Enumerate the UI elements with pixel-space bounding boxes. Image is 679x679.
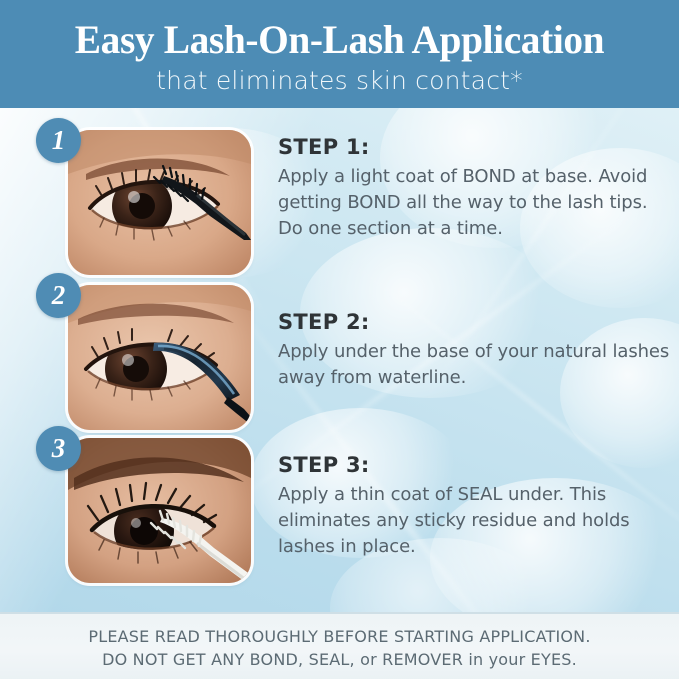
step-body: Apply a light coat of BOND at base. Avoi… (278, 164, 676, 242)
step-row: 3 STEP 3: Apply a thin coat of SEAL unde… (0, 418, 679, 578)
eye-photo-2-illustration (68, 285, 251, 430)
step-row: 1 STEP 1: Apply a light coat of BOND at … (0, 108, 679, 263)
poster-title: Easy Lash-On-Lash Application (5, 18, 674, 62)
step-badge: 2 (36, 273, 81, 318)
step-text-block: STEP 1: Apply a light coat of BOND at ba… (278, 134, 676, 242)
step-badge: 1 (36, 118, 81, 163)
steps-section: 1 STEP 1: Apply a light coat of BOND at … (0, 108, 679, 612)
step-photo (68, 285, 251, 430)
footer-warning-line-1: PLEASE READ THOROUGHLY BEFORE STARTING A… (0, 625, 679, 648)
step-text-block: STEP 3: Apply a thin coat of SEAL under.… (278, 452, 676, 560)
step-body: Apply a thin coat of SEAL under. This el… (278, 482, 676, 560)
eye-photo-1-illustration (68, 130, 251, 275)
eye-photo-3-illustration (68, 438, 251, 583)
step-text-block: STEP 2: Apply under the base of your nat… (278, 309, 676, 391)
step-photo (68, 438, 251, 583)
step-photo (68, 130, 251, 275)
poster-footer: PLEASE READ THOROUGHLY BEFORE STARTING A… (0, 612, 679, 679)
step-badge: 3 (36, 426, 81, 471)
step-heading: STEP 2: (278, 309, 676, 336)
step-body: Apply under the base of your natural las… (278, 339, 676, 391)
poster-header: Easy Lash-On-Lash Application that elimi… (0, 0, 679, 108)
step-heading: STEP 1: (278, 134, 676, 161)
footer-warning-line-2: DO NOT GET ANY BOND, SEAL, or REMOVER in… (0, 648, 679, 671)
instructional-poster: Easy Lash-On-Lash Application that elimi… (0, 0, 679, 679)
step-heading: STEP 3: (278, 452, 676, 479)
step-row: 2 STEP 2: Apply under the base of your n… (0, 263, 679, 418)
poster-subtitle: that eliminates skin contact* (0, 66, 679, 96)
